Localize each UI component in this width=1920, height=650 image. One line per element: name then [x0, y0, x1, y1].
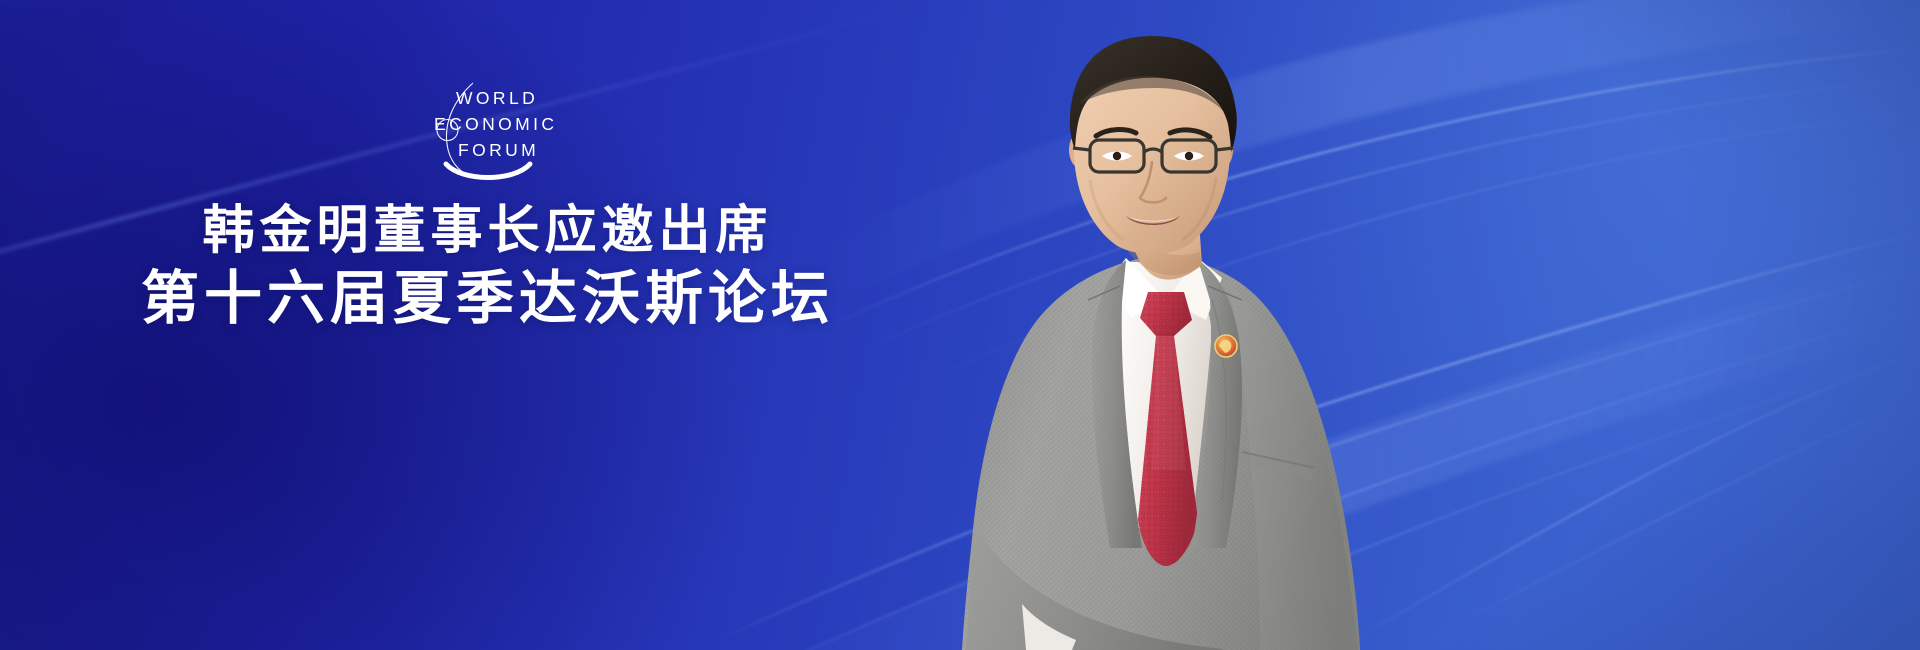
head: [1069, 36, 1237, 254]
man-in-gray-suit-portrait: [930, 0, 1390, 650]
lapel-pin-icon: [1215, 335, 1237, 357]
world-economic-forum-logo: WORLD ECONOMIC FORUM: [418, 78, 578, 186]
banner-title: 韩金明董事长应邀出席 第十六届夏季达沃斯论坛: [0, 198, 975, 332]
logo-line-economic: ECONOMIC: [434, 114, 557, 134]
wef-davos-banner: WORLD ECONOMIC FORUM 韩金明董事长应邀出席 第十六届夏季达沃…: [0, 0, 1920, 650]
title-line-2: 第十六届夏季达沃斯论坛: [0, 266, 975, 332]
title-line-1: 韩金明董事长应邀出席: [0, 198, 975, 264]
logo-line-world: WORLD: [456, 88, 538, 108]
logo-line-forum: FORUM: [458, 140, 539, 160]
